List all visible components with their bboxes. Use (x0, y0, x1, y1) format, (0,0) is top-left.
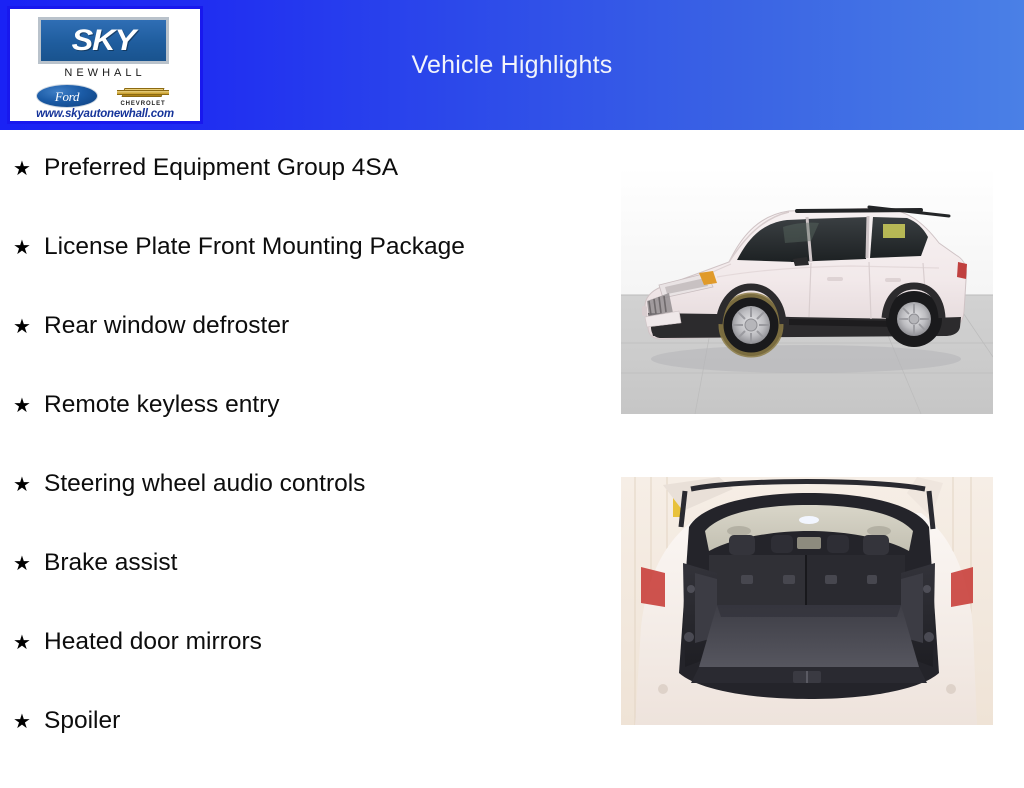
sky-brand-box: SKY (38, 17, 169, 64)
list-item: ★ Steering wheel audio controls (0, 472, 600, 551)
ford-oval-icon: Ford (36, 84, 98, 108)
ford-wordmark: Ford (55, 90, 79, 103)
exterior-photo-graphic (621, 167, 993, 414)
star-bullet-icon: ★ (13, 554, 44, 574)
dealer-logo[interactable]: SKY NEWHALL Ford CHEVROLET www.skyautone… (7, 6, 203, 124)
star-bullet-icon: ★ (13, 238, 44, 258)
star-bullet-icon: ★ (13, 633, 44, 653)
sky-brand-text: SKY (72, 26, 135, 56)
chevrolet-wordmark: CHEVROLET (120, 101, 165, 107)
list-item: ★ Brake assist (0, 551, 600, 630)
cargo-photo-graphic (621, 477, 993, 725)
list-item: ★ Rear window defroster (0, 314, 600, 393)
list-item: ★ Remote keyless entry (0, 393, 600, 472)
star-bullet-icon: ★ (13, 475, 44, 495)
dealer-website-url[interactable]: www.skyautonewhall.com (10, 108, 200, 120)
feature-label: Steering wheel audio controls (44, 472, 365, 497)
front-wheel (720, 294, 782, 356)
list-item: ★ License Plate Front Mounting Package (0, 235, 600, 314)
feature-label: Spoiler (44, 709, 120, 734)
feature-label: Rear window defroster (44, 314, 289, 339)
feature-label: License Plate Front Mounting Package (44, 235, 465, 260)
star-bullet-icon: ★ (13, 712, 44, 732)
vehicle-exterior-photo[interactable] (621, 167, 993, 414)
chevrolet-badge: CHEVROLET (112, 85, 174, 107)
list-item: ★ Spoiler (0, 709, 600, 788)
dealer-location-label: NEWHALL (10, 67, 200, 79)
feature-label: Preferred Equipment Group 4SA (44, 156, 398, 181)
dealer-logo-card: SKY NEWHALL Ford CHEVROLET www.skyautone… (10, 9, 200, 121)
star-bullet-icon: ★ (13, 396, 44, 416)
feature-label: Heated door mirrors (44, 630, 262, 655)
star-bullet-icon: ★ (13, 159, 44, 179)
list-item: ★ Preferred Equipment Group 4SA (0, 156, 600, 235)
list-item: ★ Heated door mirrors (0, 630, 600, 709)
star-bullet-icon: ★ (13, 317, 44, 337)
feature-label: Remote keyless entry (44, 393, 280, 418)
franchise-badges: Ford CHEVROLET (10, 83, 200, 109)
feature-label: Brake assist (44, 551, 177, 576)
vehicle-highlights-list: ★ Preferred Equipment Group 4SA ★ Licens… (0, 130, 600, 788)
vehicle-cargo-photo[interactable] (621, 477, 993, 725)
chevrolet-bowtie-icon (117, 85, 169, 100)
